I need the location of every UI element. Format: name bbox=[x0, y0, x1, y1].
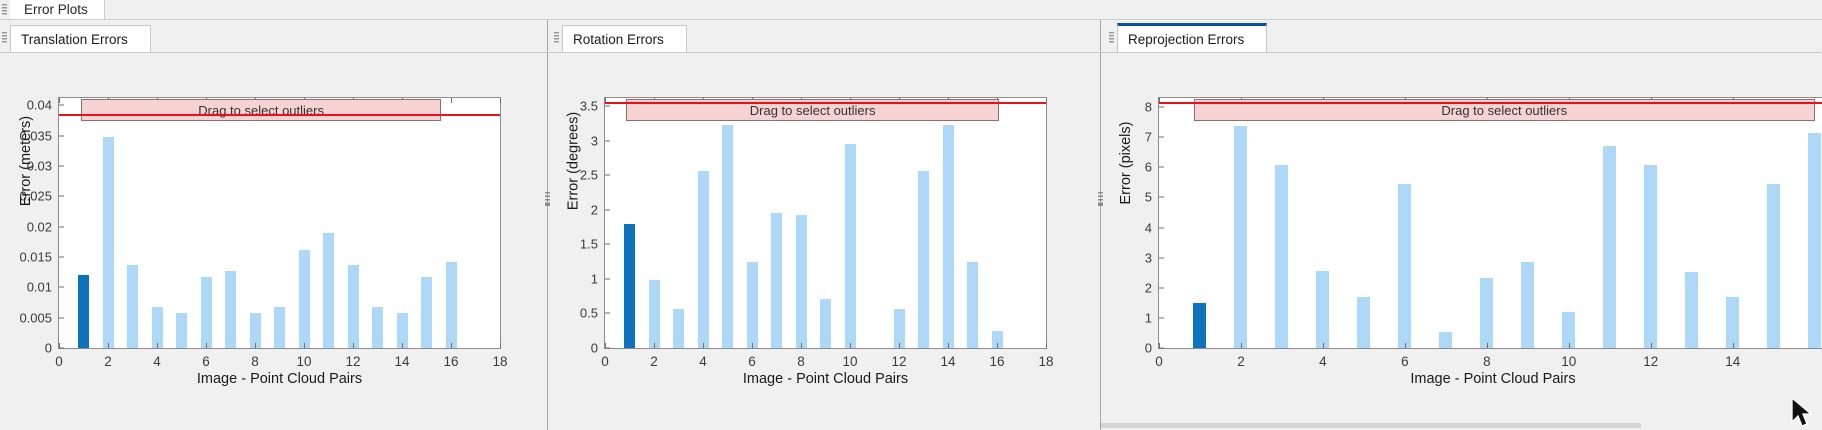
y-axis-tick-mark bbox=[59, 105, 64, 106]
horizontal-scrollbar[interactable] bbox=[1101, 421, 1821, 430]
chart-axes-reprojection[interactable]: Drag to select outliers 0123456780246810… bbox=[1158, 97, 1822, 349]
x-axis-tick-label: 2 bbox=[104, 348, 112, 369]
y-axis-label-2: Error (degrees) bbox=[566, 99, 582, 224]
x-axis-tick-mark bbox=[1569, 343, 1570, 348]
y-axis-tick-mark bbox=[605, 209, 610, 210]
chart-bar[interactable] bbox=[1480, 278, 1493, 348]
y-axis-tick-label: 2 bbox=[591, 202, 605, 217]
y-axis-tick-label: 1 bbox=[591, 271, 605, 286]
y-axis-tick-mark bbox=[605, 140, 610, 141]
outer-tab-strip: Error Plots bbox=[0, 0, 1822, 20]
y-axis-tick-label: 2 bbox=[1145, 280, 1159, 295]
y-axis-tick-label: 0.01 bbox=[27, 280, 59, 295]
panel-rotation-errors: Rotation Errors Drag to select outliers … bbox=[548, 20, 1101, 430]
x-axis-label-3: Image - Point Cloud Pairs bbox=[1158, 371, 1822, 387]
y-axis-tick-mark bbox=[59, 226, 64, 227]
x-axis-tick-mark bbox=[255, 343, 256, 348]
x-axis-tick-mark bbox=[1159, 343, 1160, 348]
x-axis-tick-label: 2 bbox=[1237, 348, 1245, 369]
y-axis-tick-mark bbox=[1159, 167, 1164, 168]
x-axis-tick-label: 8 bbox=[1483, 348, 1491, 369]
x-axis-tick-mark bbox=[605, 343, 606, 348]
x-axis-tick-mark bbox=[948, 343, 949, 348]
chart-bar[interactable] bbox=[1767, 184, 1780, 348]
x-axis-tick-mark bbox=[752, 343, 753, 348]
x-axis-tick-label: 10 bbox=[842, 348, 857, 369]
tab-rotation-errors[interactable]: Rotation Errors bbox=[562, 25, 687, 53]
chart-bar[interactable] bbox=[1439, 332, 1452, 348]
x-axis-tick-label: 12 bbox=[345, 348, 360, 369]
chart-bar[interactable] bbox=[323, 233, 334, 348]
y-axis-tick-mark bbox=[1159, 107, 1164, 108]
chart-bar[interactable] bbox=[421, 277, 432, 348]
x-axis-tick-label: 2 bbox=[650, 348, 658, 369]
chart-bar[interactable] bbox=[649, 280, 660, 348]
chart-bar[interactable] bbox=[1316, 271, 1329, 348]
y-axis-tick-mark bbox=[605, 106, 610, 107]
chart-bar[interactable] bbox=[796, 215, 807, 348]
y-axis-tick-mark bbox=[1159, 227, 1164, 228]
tab-label: Reprojection Errors bbox=[1128, 32, 1244, 47]
tab-grip-icon-1[interactable] bbox=[2, 32, 7, 44]
tab-translation-errors[interactable]: Translation Errors bbox=[10, 25, 151, 53]
chart-bar[interactable] bbox=[624, 224, 635, 348]
chart-bar[interactable] bbox=[1726, 297, 1739, 348]
y-axis-tick-mark bbox=[1159, 257, 1164, 258]
y-axis-tick-mark bbox=[59, 196, 64, 197]
x-axis-tick-mark bbox=[1323, 343, 1324, 348]
x-axis-tick-mark bbox=[801, 343, 802, 348]
y-axis-tick-mark bbox=[1159, 317, 1164, 318]
x-axis-tick-mark bbox=[402, 343, 403, 348]
x-axis-tick-mark-top bbox=[451, 98, 452, 103]
chart-bar[interactable] bbox=[446, 262, 457, 348]
x-axis-tick-label: 4 bbox=[699, 348, 707, 369]
y-axis-tick-mark bbox=[59, 317, 64, 318]
y-axis-tick-label: 1 bbox=[1145, 310, 1159, 325]
y-axis-tick-label: 7 bbox=[1145, 130, 1159, 145]
chart-bar[interactable] bbox=[176, 313, 187, 348]
x-axis-tick-label: 10 bbox=[1561, 348, 1576, 369]
x-axis-tick-mark bbox=[1487, 343, 1488, 348]
tab-grip-icon-3[interactable] bbox=[1109, 32, 1114, 44]
chart-bar[interactable] bbox=[1644, 165, 1657, 348]
tab-label: Translation Errors bbox=[21, 32, 128, 47]
x-axis-tick-label: 14 bbox=[1725, 348, 1740, 369]
x-axis-tick-mark bbox=[304, 343, 305, 348]
x-axis-tick-label: 14 bbox=[940, 348, 955, 369]
y-axis-label-1: Error (meters) bbox=[18, 101, 34, 221]
y-axis-label-3: Error (pixels) bbox=[1118, 103, 1134, 223]
chart-bar[interactable] bbox=[820, 299, 831, 348]
chart-bar[interactable] bbox=[918, 171, 929, 348]
y-axis-tick-mark bbox=[1159, 197, 1164, 198]
chart-bar[interactable] bbox=[1275, 165, 1288, 348]
y-axis-tick-mark bbox=[605, 278, 610, 279]
chart-bar[interactable] bbox=[201, 277, 212, 348]
chart-plot-region-2[interactable]: Drag to select outliers bbox=[605, 98, 1046, 348]
tab-reprojection-errors[interactable]: Reprojection Errors bbox=[1117, 23, 1267, 53]
x-axis-tick-label: 6 bbox=[1401, 348, 1409, 369]
panel-translation-errors: Translation Errors Drag to select outlie… bbox=[0, 20, 548, 430]
y-axis-tick-mark bbox=[605, 175, 610, 176]
y-axis-tick-mark bbox=[1159, 137, 1164, 138]
x-axis-tick-label: 0 bbox=[601, 348, 609, 369]
x-axis-tick-label: 18 bbox=[1038, 348, 1053, 369]
x-axis-tick-mark bbox=[654, 343, 655, 348]
y-axis-tick-label: 0.5 bbox=[580, 306, 605, 321]
y-axis-tick-label: 4 bbox=[1145, 220, 1159, 235]
x-axis-tick-label: 6 bbox=[202, 348, 210, 369]
chart-bar[interactable] bbox=[1398, 184, 1411, 348]
chart-bar[interactable] bbox=[1234, 126, 1247, 348]
chart-plot-region-1[interactable]: Drag to select outliers bbox=[59, 98, 500, 348]
chart-bar[interactable] bbox=[1685, 272, 1698, 348]
outer-tab-label: Error Plots bbox=[24, 2, 88, 17]
x-axis-tick-mark bbox=[157, 343, 158, 348]
outlier-threshold-line[interactable] bbox=[605, 102, 1046, 104]
x-axis-label-1: Image - Point Cloud Pairs bbox=[58, 371, 501, 387]
y-axis-tick-label: 3 bbox=[591, 133, 605, 148]
chart-bar[interactable] bbox=[722, 125, 733, 348]
y-axis-tick-label: 2.5 bbox=[580, 168, 605, 183]
x-axis-tick-mark bbox=[1733, 343, 1734, 348]
y-axis-tick-mark bbox=[605, 313, 610, 314]
chart-bar[interactable] bbox=[225, 271, 236, 348]
x-axis-tick-mark bbox=[1405, 343, 1406, 348]
x-axis-tick-mark bbox=[1046, 343, 1047, 348]
outlier-threshold-line[interactable] bbox=[1159, 102, 1822, 104]
panel-splitter-2[interactable] bbox=[1098, 192, 1103, 206]
tab-label: Rotation Errors bbox=[573, 32, 664, 47]
y-axis-tick-label: 3 bbox=[1145, 250, 1159, 265]
chart-bar[interactable] bbox=[771, 213, 782, 348]
x-axis-tick-label: 16 bbox=[443, 348, 458, 369]
chart-bar[interactable] bbox=[673, 309, 684, 348]
x-axis-tick-mark bbox=[850, 343, 851, 348]
chart-bar[interactable] bbox=[747, 262, 758, 348]
x-axis-tick-mark-top bbox=[500, 98, 501, 103]
chart-bar[interactable] bbox=[78, 275, 89, 348]
panel-splitter-1[interactable] bbox=[545, 192, 550, 206]
x-axis-tick-mark bbox=[206, 343, 207, 348]
panel-container: Translation Errors Drag to select outlie… bbox=[0, 20, 1822, 430]
y-axis-tick-label: 0.02 bbox=[27, 219, 59, 234]
plot-area-3: Drag to select outliers 0123456780246810… bbox=[1101, 53, 1821, 430]
chart-bar[interactable] bbox=[943, 125, 954, 348]
x-axis-tick-label: 0 bbox=[55, 348, 63, 369]
x-axis-tick-label: 8 bbox=[797, 348, 805, 369]
tab-row-2: Rotation Errors bbox=[548, 20, 1100, 53]
x-axis-tick-mark bbox=[1241, 343, 1242, 348]
tab-grip-icon-2[interactable] bbox=[554, 32, 559, 44]
outlier-threshold-line[interactable] bbox=[59, 114, 500, 116]
y-axis-tick-label: 3.5 bbox=[580, 99, 605, 114]
chart-bar[interactable] bbox=[372, 307, 383, 348]
x-axis-tick-label: 4 bbox=[1319, 348, 1327, 369]
tab-row-1: Translation Errors bbox=[0, 20, 547, 53]
chart-bar[interactable] bbox=[845, 144, 856, 348]
chart-bar[interactable] bbox=[967, 262, 978, 348]
x-axis-tick-label: 14 bbox=[394, 348, 409, 369]
x-axis-tick-label: 12 bbox=[1643, 348, 1658, 369]
scrollbar-thumb[interactable] bbox=[1101, 423, 1641, 428]
x-axis-tick-label: 18 bbox=[492, 348, 507, 369]
chart-bar[interactable] bbox=[1808, 133, 1821, 348]
drag-to-select-outliers-band[interactable]: Drag to select outliers bbox=[81, 99, 441, 121]
y-axis-tick-label: 1.5 bbox=[580, 237, 605, 252]
y-axis-tick-mark bbox=[59, 135, 64, 136]
chart-bar[interactable] bbox=[152, 307, 163, 348]
chart-bar[interactable] bbox=[1603, 146, 1616, 348]
y-axis-tick-label: 0.015 bbox=[19, 249, 59, 264]
y-axis-tick-mark bbox=[59, 256, 64, 257]
chart-axes-translation[interactable]: Drag to select outliers 00.0050.010.0150… bbox=[58, 97, 501, 349]
x-axis-tick-mark bbox=[703, 343, 704, 348]
y-axis-tick-label: 5 bbox=[1145, 190, 1159, 205]
x-axis-tick-label: 0 bbox=[1155, 348, 1163, 369]
y-axis-tick-mark bbox=[1159, 287, 1164, 288]
drag-band-label: Drag to select outliers bbox=[1441, 103, 1567, 118]
y-axis-tick-mark bbox=[59, 165, 64, 166]
tab-row-3: Reprojection Errors bbox=[1101, 20, 1821, 53]
plot-area-2: Drag to select outliers 00.511.522.533.5… bbox=[548, 53, 1100, 430]
chart-bar[interactable] bbox=[348, 265, 359, 348]
panel-reprojection-errors: Reprojection Errors Drag to select outli… bbox=[1101, 20, 1821, 430]
x-axis-tick-mark bbox=[500, 343, 501, 348]
chart-bar[interactable] bbox=[1193, 303, 1206, 348]
y-axis-tick-label: 8 bbox=[1145, 100, 1159, 115]
x-axis-tick-mark bbox=[108, 343, 109, 348]
outer-tab-grip-icon[interactable] bbox=[2, 4, 7, 16]
x-axis-tick-mark bbox=[59, 343, 60, 348]
x-axis-tick-mark bbox=[899, 343, 900, 348]
x-axis-tick-mark bbox=[997, 343, 998, 348]
chart-bar[interactable] bbox=[274, 307, 285, 348]
chart-plot-region-3[interactable]: Drag to select outliers bbox=[1159, 98, 1822, 348]
y-axis-tick-label: 6 bbox=[1145, 160, 1159, 175]
chart-bar[interactable] bbox=[103, 137, 114, 348]
mouse-cursor-icon bbox=[1789, 396, 1819, 430]
x-axis-tick-label: 16 bbox=[989, 348, 1004, 369]
chart-bar[interactable] bbox=[698, 171, 709, 348]
x-axis-tick-mark bbox=[353, 343, 354, 348]
outer-tab-error-plots[interactable]: Error Plots bbox=[10, 0, 105, 20]
x-axis-tick-mark bbox=[1651, 343, 1652, 348]
chart-bar[interactable] bbox=[1357, 297, 1370, 348]
x-axis-tick-label: 6 bbox=[748, 348, 756, 369]
y-axis-tick-mark bbox=[605, 244, 610, 245]
x-axis-tick-label: 8 bbox=[251, 348, 259, 369]
x-axis-tick-mark bbox=[451, 343, 452, 348]
drag-band-label: Drag to select outliers bbox=[750, 103, 876, 118]
y-axis-tick-label: 0.005 bbox=[19, 310, 59, 325]
y-axis-tick-mark bbox=[59, 287, 64, 288]
x-axis-tick-label: 12 bbox=[891, 348, 906, 369]
chart-bar[interactable] bbox=[299, 250, 310, 348]
plot-area-1: Drag to select outliers 00.0050.010.0150… bbox=[0, 53, 547, 430]
x-axis-tick-mark-top bbox=[59, 98, 60, 103]
x-axis-tick-mark-top bbox=[1046, 98, 1047, 103]
chart-bar[interactable] bbox=[127, 265, 138, 348]
chart-bar[interactable] bbox=[1521, 262, 1534, 348]
x-axis-tick-label: 4 bbox=[153, 348, 161, 369]
x-axis-tick-label: 10 bbox=[296, 348, 311, 369]
x-axis-label-2: Image - Point Cloud Pairs bbox=[604, 371, 1047, 387]
chart-axes-rotation[interactable]: Drag to select outliers 00.511.522.533.5… bbox=[604, 97, 1047, 349]
